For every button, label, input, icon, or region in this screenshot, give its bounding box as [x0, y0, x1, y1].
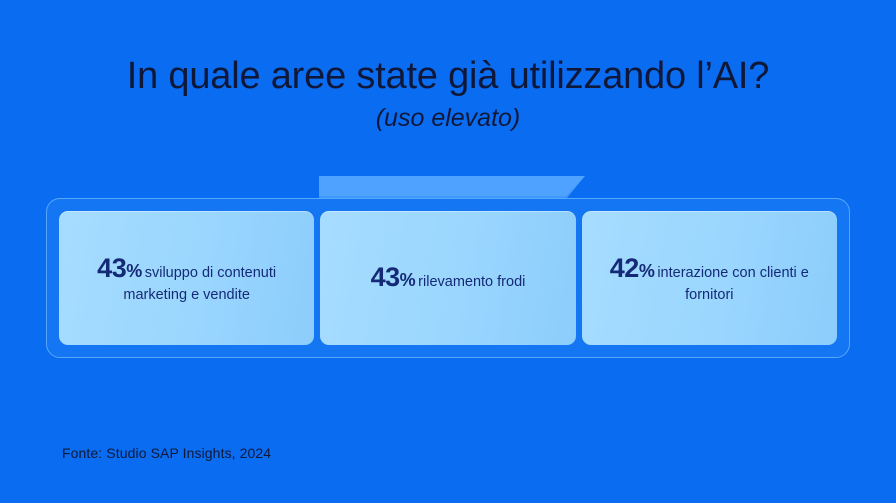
- stat-percent: 43%: [97, 265, 142, 281]
- stat-percent: 42%: [610, 265, 655, 281]
- stat-percent-symbol: %: [126, 261, 142, 281]
- stat-percent-number: 43: [371, 262, 400, 292]
- stat-percent: 43%: [371, 274, 416, 290]
- stat-percent-number: 43: [97, 253, 126, 283]
- stat-card-label: interazione con clienti e fornitori: [657, 265, 809, 303]
- stats-panel: 43%sviluppo di contenuti marketing e ven…: [46, 198, 850, 358]
- stat-percent-number: 42: [610, 253, 639, 283]
- stat-card-text: 42%interazione con clienti e fornitori: [596, 252, 823, 304]
- stat-percent-symbol: %: [639, 261, 655, 281]
- stat-card[interactable]: 43%rilevamento frodi: [320, 211, 575, 345]
- stat-card-text: 43%rilevamento frodi: [371, 261, 526, 295]
- stat-card-text: 43%sviluppo di contenuti marketing e ven…: [73, 252, 300, 304]
- title-block: In quale aree state già utilizzando l’AI…: [0, 56, 896, 133]
- page-subtitle: (uso elevato): [0, 104, 896, 133]
- page-title: In quale aree state già utilizzando l’AI…: [0, 56, 896, 98]
- stat-card-label: sviluppo di contenuti marketing e vendit…: [123, 265, 276, 303]
- stat-card-label: rilevamento frodi: [418, 274, 525, 290]
- stat-card[interactable]: 42%interazione con clienti e fornitori: [582, 211, 837, 345]
- slide-root: In quale aree state già utilizzando l’AI…: [0, 0, 896, 503]
- stat-percent-symbol: %: [400, 270, 416, 290]
- stat-card[interactable]: 43%sviluppo di contenuti marketing e ven…: [59, 211, 314, 345]
- source-note: Fonte: Studio SAP Insights, 2024: [62, 445, 271, 461]
